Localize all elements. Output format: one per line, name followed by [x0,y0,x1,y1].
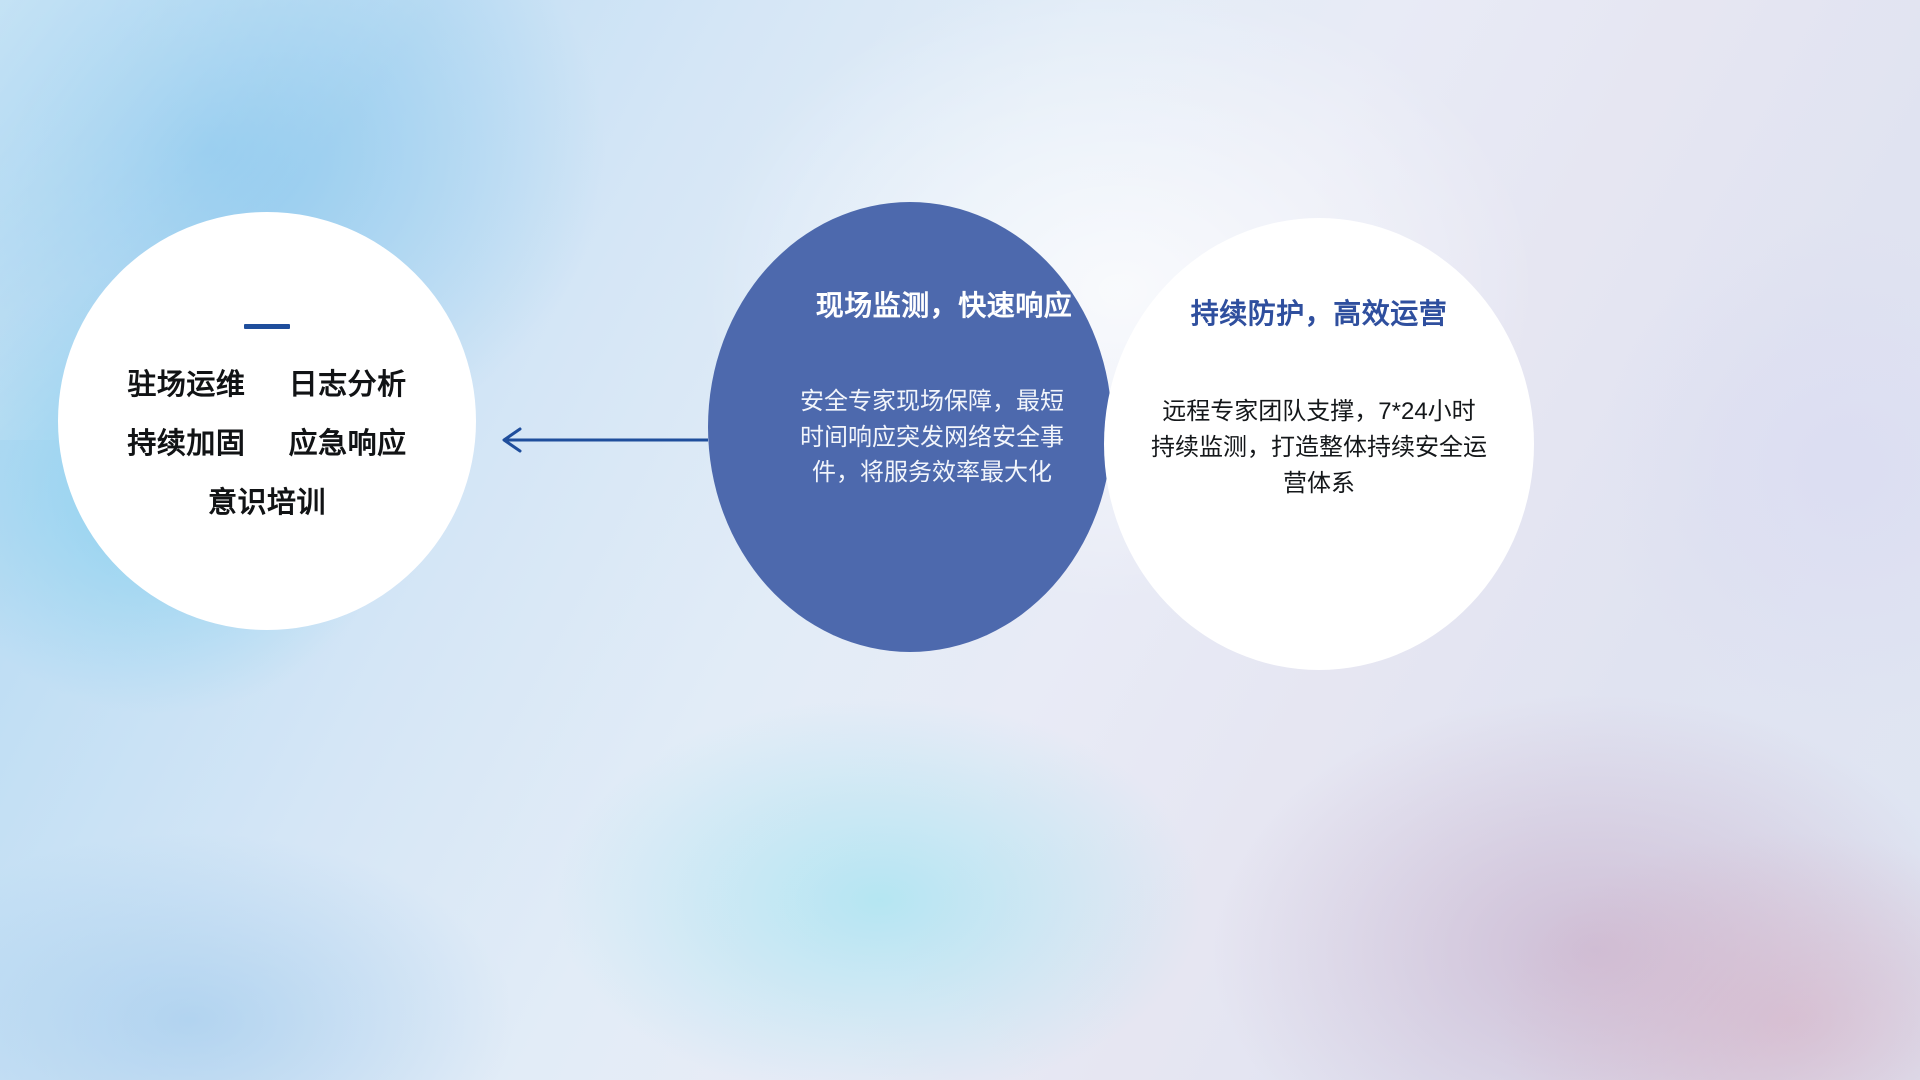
circle-left-content: 驻场运维 日志分析 持续加固 应急响应 意识培训 [58,212,476,630]
circle-right-title: 持续防护，高效运营 [1191,292,1448,332]
circle-right-continuous-protection[interactable]: 持续防护，高效运营 远程专家团队支撑，7*24小时持续监测，打造整体持续安全运营… [1104,218,1534,670]
capability-label-awareness: 意识培训 [208,487,326,519]
capability-label-incident-resp: 应急响应 [289,428,407,460]
capability-row-2: 持续加固 应急响应 [127,430,406,459]
capability-label-onsite-ops: 驻场运维 [127,369,245,401]
circle-middle-title: 现场监测，快速响应 [816,284,1073,324]
circle-middle-onsite-monitoring[interactable]: 现场监测，快速响应 安全专家现场保障，最短时间响应突发网络安全事件，将服务效率最… [708,202,1112,652]
accent-dash-divider [244,324,290,329]
left-pointing-arrow-icon [492,420,708,460]
circle-left-capability-list: 驻场运维 日志分析 持续加固 应急响应 意识培训 [127,371,406,518]
circle-right-content: 持续防护，高效运营 远程专家团队支撑，7*24小时持续监测，打造整体持续安全运营… [1104,218,1534,670]
capability-label-hardening: 持续加固 [127,428,245,460]
capability-label-log-analysis: 日志分析 [289,369,407,401]
capability-row-1: 驻场运维 日志分析 [127,371,406,400]
circle-left-capabilities[interactable]: 驻场运维 日志分析 持续加固 应急响应 意识培训 [58,212,476,630]
circle-middle-content: 现场监测，快速响应 安全专家现场保障，最短时间响应突发网络安全事件，将服务效率最… [708,202,1112,652]
circle-middle-body: 安全专家现场保障，最短时间响应突发网络安全事件，将服务效率最大化 [800,384,1064,491]
circle-right-body: 远程专家团队支撑，7*24小时持续监测，打造整体持续安全运营体系 [1151,394,1487,502]
capability-row-3: 意识培训 [127,489,406,518]
diagram-stage: 现场监测，快速响应 安全专家现场保障，最短时间响应突发网络安全事件，将服务效率最… [0,0,1920,1080]
